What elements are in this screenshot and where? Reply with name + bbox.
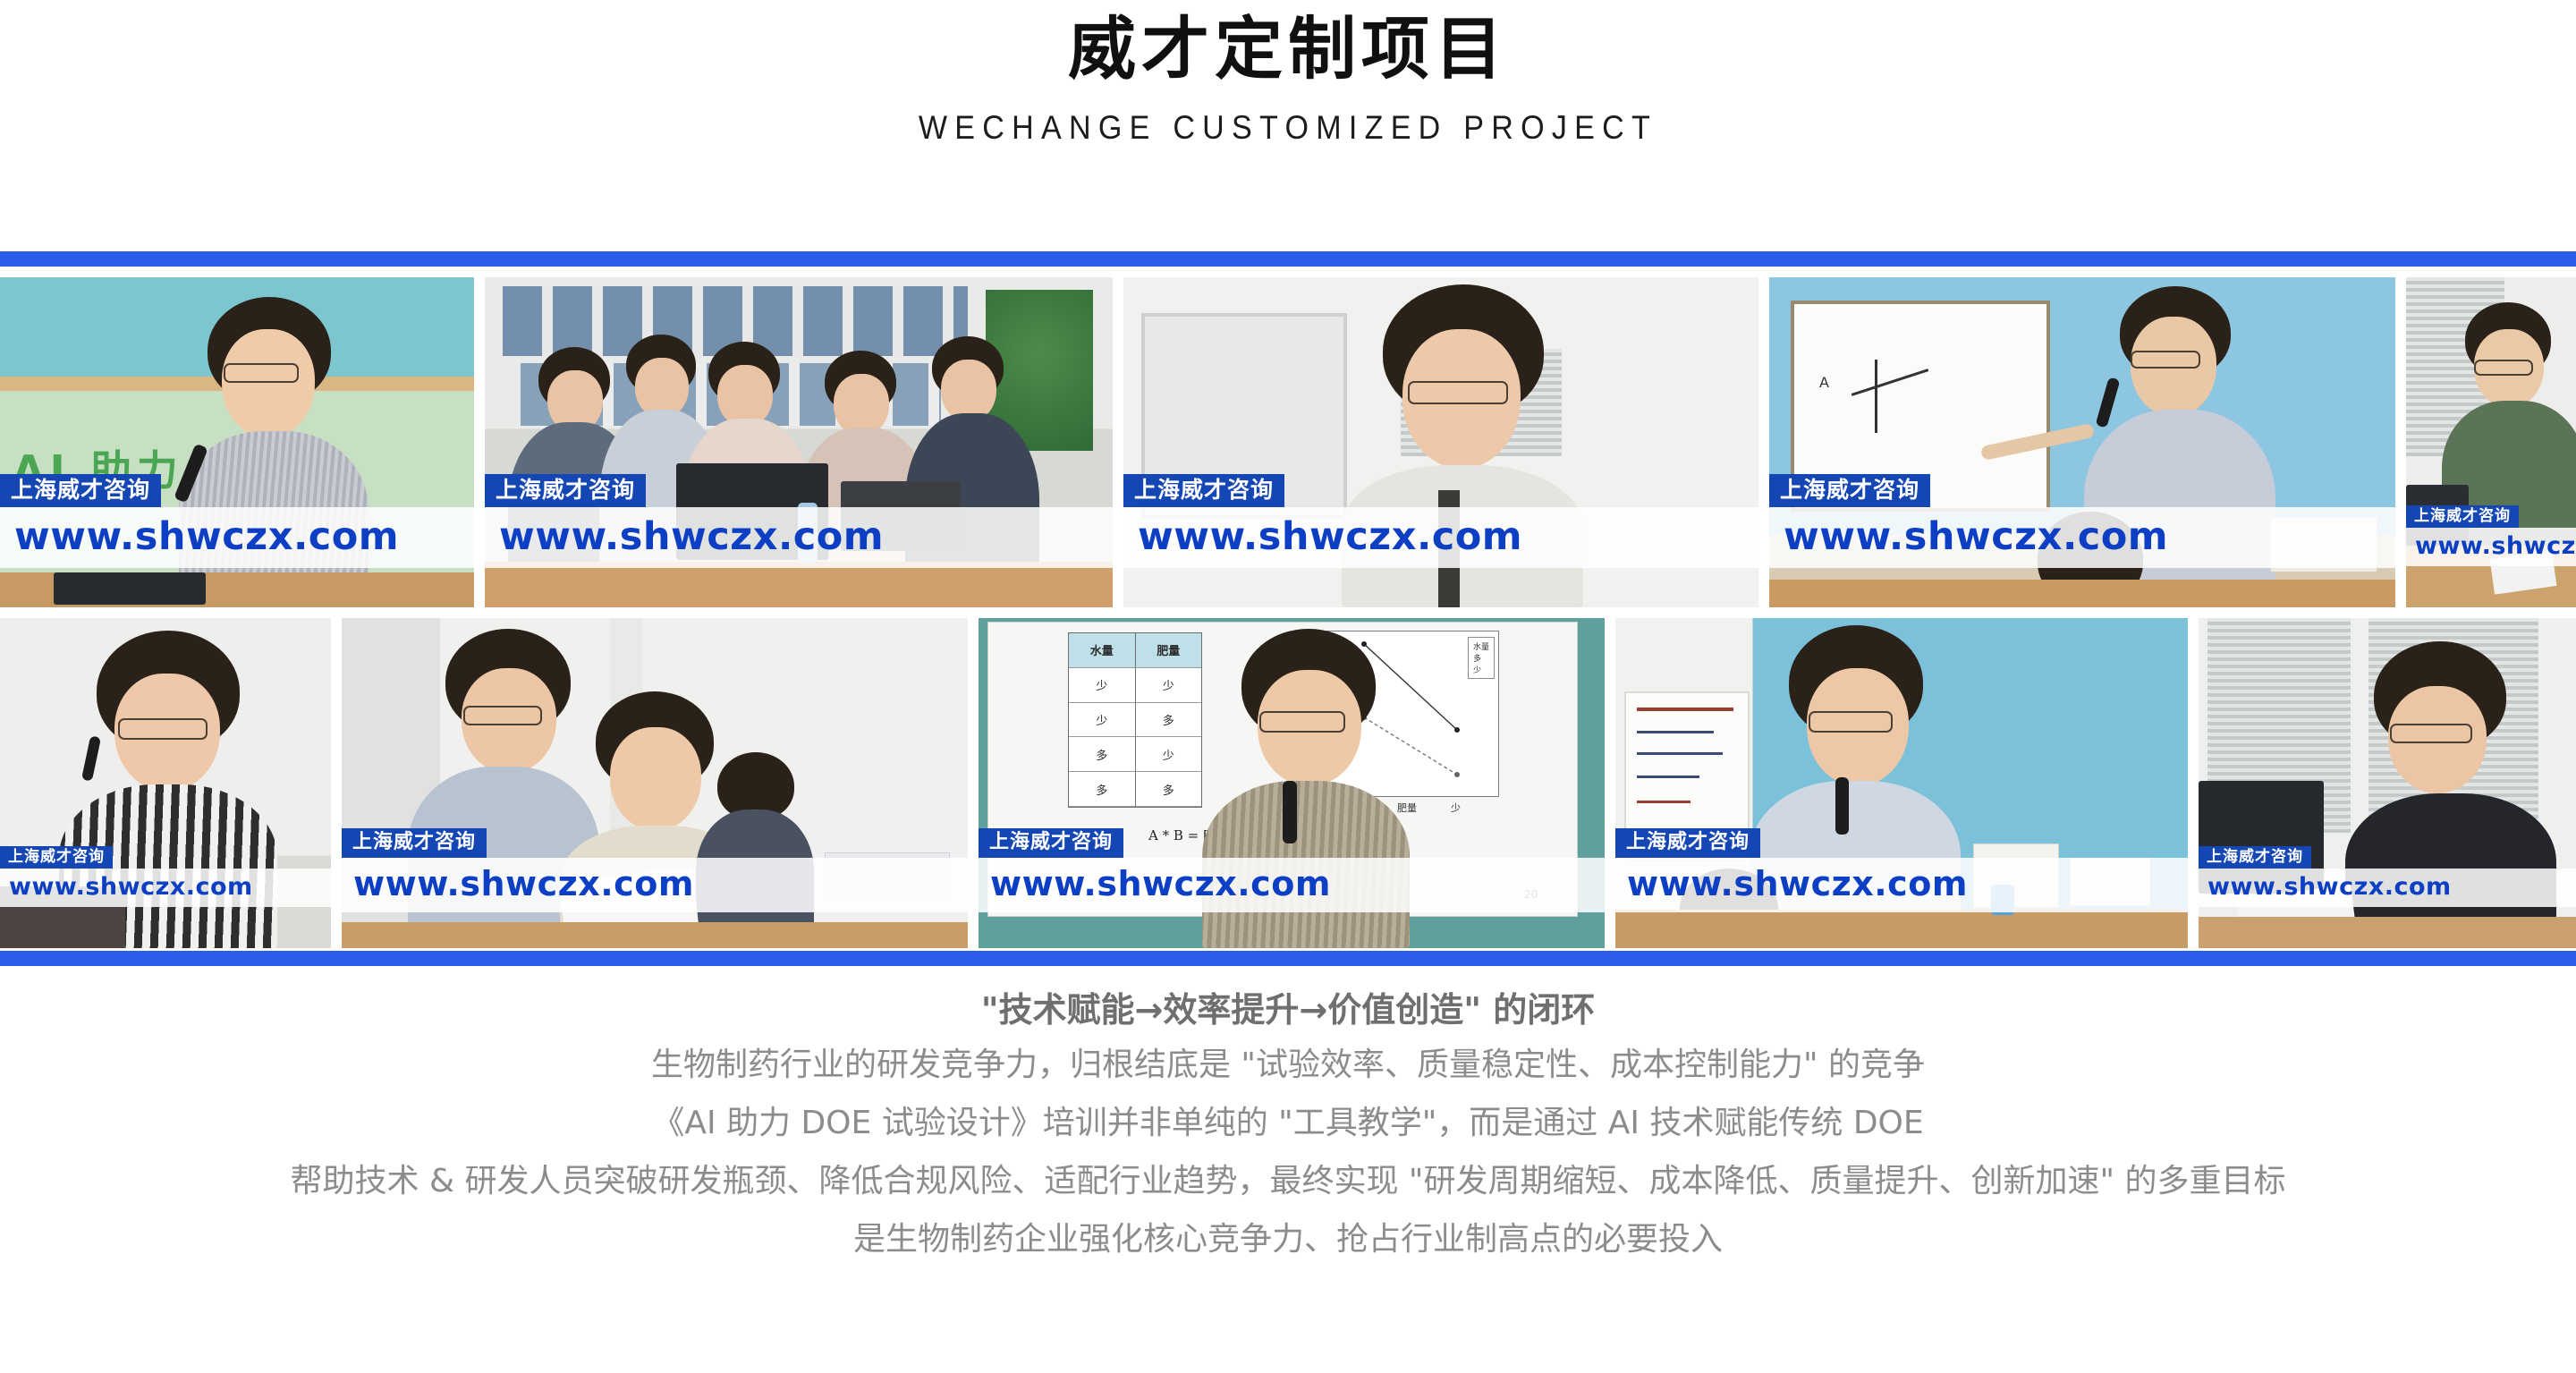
doe-legend-item: 少 <box>1473 664 1489 675</box>
watermark-url: www.shwczx.com <box>0 507 474 568</box>
footer-line: 《AI 助力 DOE 试验设计》培训并非单纯的 "工具教学"，而是通过 AI 技… <box>0 1107 2576 1140</box>
gallery-row: AI 助力 上海威才咨询 www.shwczx.com <box>0 277 2576 607</box>
doe-table-header-row: 水量 肥量 <box>1069 633 1201 668</box>
watermark-url: www.shwczx.com <box>1123 507 1758 568</box>
watermark-badge: 上海威才咨询 <box>1615 828 1760 858</box>
divider-rule-top <box>0 251 2576 267</box>
gallery-row: 上海威才咨询 www.shwczx.com <box>0 618 2576 948</box>
photo-lecturer-with-microphone-ai-banner[interactable]: AI 助力 上海威才咨询 www.shwczx.com <box>0 277 474 607</box>
photo-participant-working-at-desk[interactable]: 上海威才咨询 www.shwczx.com <box>2406 277 2576 607</box>
divider-rule-bottom <box>0 951 2576 966</box>
doe-table-row: 多 少 <box>1069 737 1201 772</box>
watermark: 上海威才咨询 www.shwczx.com <box>1769 474 2395 568</box>
watermark-url: www.shwczx.com <box>485 507 1113 568</box>
photo-speaker-beside-flipchart[interactable]: 上海威才咨询 www.shwczx.com <box>1615 618 2188 948</box>
page-title: 威才定制项目 <box>0 13 2576 86</box>
watermark-badge: 上海威才咨询 <box>1769 474 1930 507</box>
watermark-url: www.shwczx.com <box>2406 528 2576 566</box>
doe-header-cell: 肥量 <box>1136 633 1202 668</box>
watermark-badge: 上海威才咨询 <box>2406 505 2519 528</box>
doe-cell: 多 <box>1069 772 1136 807</box>
photo-classroom-audience-at-laptops[interactable]: 上海威才咨询 www.shwczx.com <box>485 277 1113 607</box>
doe-cell: 少 <box>1136 668 1202 703</box>
doe-cell: 多 <box>1136 772 1202 807</box>
doe-table-row: 少 少 <box>1069 668 1201 703</box>
doe-table-row: 少 多 <box>1069 703 1201 738</box>
doe-cell: 多 <box>1136 703 1202 738</box>
watermark-badge: 上海威才咨询 <box>979 828 1123 858</box>
watermark-badge: 上海威才咨询 <box>2199 846 2311 869</box>
poster-page: 威才定制项目 WECHANGE CUSTOMIZED PROJECT AI 助力 <box>0 0 2576 1373</box>
photo-attendee-at-workstation[interactable]: 上海威才咨询 www.shwczx.com <box>2199 618 2576 948</box>
photo-instructor-explaining-doe-slide[interactable]: 水量 肥量 少 少 少 多 多 少 <box>979 618 1605 948</box>
watermark: 上海威才咨询 www.shwczx.com <box>1123 474 1758 568</box>
page-subtitle: WECHANGE CUSTOMIZED PROJECT <box>103 109 2473 147</box>
watermark-badge: 上海威才咨询 <box>0 846 113 869</box>
photo-gallery: AI 助力 上海威才咨询 www.shwczx.com <box>0 277 2576 948</box>
watermark-url: www.shwczx.com <box>1615 858 2188 912</box>
watermark: 上海威才咨询 www.shwczx.com <box>979 828 1605 912</box>
doe-cell: 少 <box>1069 703 1136 738</box>
doe-cell: 多 <box>1069 737 1136 772</box>
watermark: 上海威才咨询 www.shwczx.com <box>1615 828 2188 912</box>
footer-text-block: "技术赋能→效率提升→价值创造" 的闭环 生物制药行业的研发竞争力，归根结底是 … <box>0 982 2576 1282</box>
doe-cell: 少 <box>1069 668 1136 703</box>
photo-trainer-writing-on-whiteboard[interactable]: A 上海威才咨询 www.shwczx.com <box>1769 277 2395 607</box>
doe-xlabel: 肥量 <box>1397 801 1417 815</box>
watermark: 上海威才咨询 www.shwczx.com <box>0 846 331 907</box>
watermark: 上海威才咨询 www.shwczx.com <box>2199 846 2576 907</box>
watermark-badge: 上海威才咨询 <box>485 474 646 507</box>
doe-cell: 少 <box>1136 737 1202 772</box>
footer-lead-line: "技术赋能→效率提升→价值创造" 的闭环 <box>0 982 2576 1031</box>
footer-line: 帮助技术 & 研发人员突破研发瓶颈、降低合规风险、适配行业趋势，最终实现 "研发… <box>0 1165 2576 1198</box>
watermark-url: www.shwczx.com <box>2199 869 2576 907</box>
watermark: 上海威才咨询 www.shwczx.com <box>485 474 1113 568</box>
watermark-badge: 上海威才咨询 <box>1123 474 1284 507</box>
watermark-badge: 上海威才咨询 <box>342 828 487 858</box>
doe-legend-item: 多 <box>1473 652 1489 664</box>
doe-header-cell: 水量 <box>1069 633 1136 668</box>
watermark-url: www.shwczx.com <box>342 858 968 912</box>
watermark: 上海威才咨询 www.shwczx.com <box>0 474 474 568</box>
photo-female-presenter-speaking[interactable]: 上海威才咨询 www.shwczx.com <box>1123 277 1758 607</box>
footer-line: 生物制药行业的研发竞争力，归根结底是 "试验效率、质量稳定性、成本控制能力" 的… <box>0 1049 2576 1081</box>
watermark-url: www.shwczx.com <box>979 858 1605 912</box>
doe-plot-legend: 水量 多 少 <box>1468 637 1495 679</box>
photo-female-participant-striped-shirt[interactable]: 上海威才咨询 www.shwczx.com <box>0 618 331 948</box>
page-header: 威才定制项目 WECHANGE CUSTOMIZED PROJECT <box>0 0 2576 147</box>
doe-xtick-right: 少 <box>1451 801 1461 815</box>
watermark: 上海威才咨询 www.shwczx.com <box>342 828 968 912</box>
doe-table: 水量 肥量 少 少 少 多 多 少 <box>1068 632 1202 808</box>
watermark-url: www.shwczx.com <box>1769 507 2395 568</box>
watermark-badge: 上海威才咨询 <box>0 474 161 507</box>
doe-table-row: 多 多 <box>1069 772 1201 807</box>
photo-two-participants-reviewing-document[interactable]: 上海威才咨询 www.shwczx.com <box>342 618 968 948</box>
footer-line: 是生物制药企业强化核心竞争力、抢占行业制高点的必要投入 <box>0 1224 2576 1256</box>
watermark-url: www.shwczx.com <box>0 869 331 907</box>
doe-legend-title: 水量 <box>1473 640 1489 652</box>
watermark: 上海威才咨询 www.shwczx.com <box>2406 505 2576 566</box>
